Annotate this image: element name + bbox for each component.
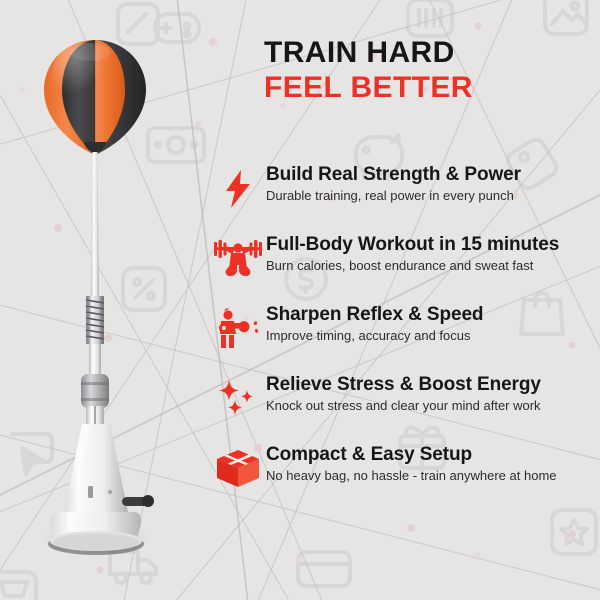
star-badge-icon (552, 510, 596, 554)
feature-title: Build Real Strength & Power (266, 164, 600, 186)
pump-lever (122, 495, 154, 507)
headline-block: TRAIN HARD FEEL BETTER (264, 36, 594, 106)
card-icon (298, 552, 350, 586)
product-infographic: TRAIN HARD FEEL BETTER Build Real Streng… (0, 0, 600, 600)
product-image-punching-ball (0, 0, 215, 600)
feature-subtitle: Durable training, real power in every pu… (266, 188, 600, 205)
lightning-bolt-icon (210, 163, 266, 213)
shipping-box-icon (210, 443, 266, 493)
punching-ball (44, 40, 146, 155)
feature-subtitle: Knock out stress and clear your mind aft… (266, 398, 600, 415)
coil-spring (86, 296, 104, 344)
adjustment-collar (81, 374, 109, 408)
feature-text: Full-Body Workout in 15 minutes Burn cal… (266, 233, 600, 274)
feature-subtitle: Burn calories, boost endurance and sweat… (266, 258, 600, 275)
feature-item: Relieve Stress & Boost Energy Knock out … (210, 373, 600, 425)
feature-subtitle: No heavy bag, no hassle - train anywhere… (266, 468, 600, 485)
barcode-icon (408, 0, 452, 36)
image-icon (545, 0, 587, 34)
feature-title: Compact & Easy Setup (266, 444, 600, 466)
weightlifter-icon (210, 233, 266, 283)
column-latch (88, 486, 93, 498)
feature-item: Full-Body Workout in 15 minutes Burn cal… (210, 233, 600, 285)
headline-line-2: FEEL BETTER (264, 71, 594, 106)
feature-text: Relieve Stress & Boost Energy Knock out … (266, 373, 600, 414)
feature-title: Full-Body Workout in 15 minutes (266, 234, 600, 256)
feature-list: Build Real Strength & Power Durable trai… (210, 163, 600, 513)
feature-item: Build Real Strength & Power Durable trai… (210, 163, 600, 215)
mid-pole (89, 344, 101, 378)
feature-title: Relieve Stress & Boost Energy (266, 374, 600, 396)
feature-text: Build Real Strength & Power Durable trai… (266, 163, 600, 204)
feature-item: Compact & Easy Setup No heavy bag, no ha… (210, 443, 600, 495)
feature-title: Sharpen Reflex & Speed (266, 304, 600, 326)
boxer-punch-icon (210, 303, 266, 353)
upper-pole (91, 152, 99, 300)
headline-line-1: TRAIN HARD (264, 36, 594, 71)
feature-subtitle: Improve timing, accuracy and focus (266, 328, 600, 345)
feature-item: Sharpen Reflex & Speed Improve timing, a… (210, 303, 600, 355)
feature-text: Compact & Easy Setup No heavy bag, no ha… (266, 443, 600, 484)
feature-text: Sharpen Reflex & Speed Improve timing, a… (266, 303, 600, 344)
sparkles-icon (210, 373, 266, 423)
